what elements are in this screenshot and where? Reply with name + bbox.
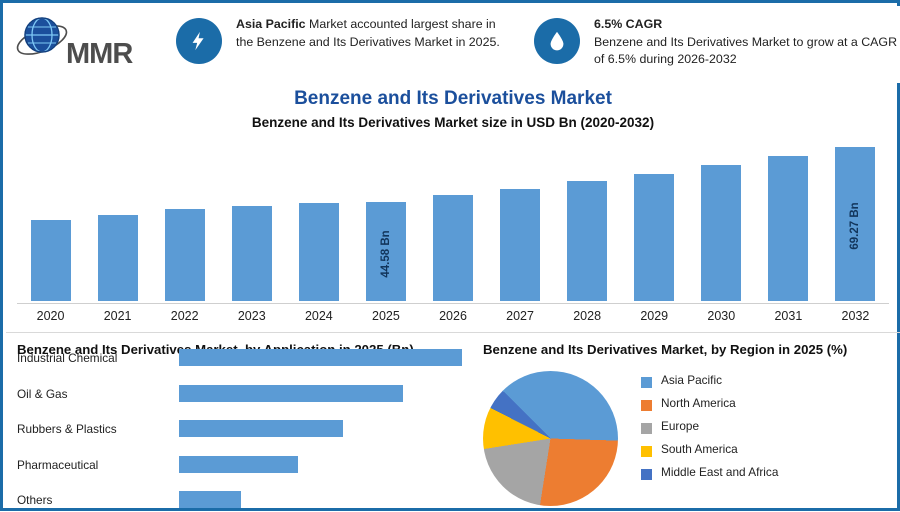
application-bar <box>179 420 343 437</box>
x-tick-2021: 2021 <box>88 309 148 323</box>
x-tick-2027: 2027 <box>490 309 550 323</box>
region-pie-chart <box>483 371 618 506</box>
bar-rect <box>500 189 540 301</box>
legend-label: Middle East and Africa <box>661 465 778 479</box>
legend-item: South America <box>641 442 871 465</box>
market-size-bar-chart: 44.58 Bn69.27 Bn <box>17 141 889 301</box>
legend-label: North America <box>661 396 736 410</box>
logo: MMR <box>14 10 164 82</box>
lightning-bolt-icon <box>176 18 222 64</box>
bar-2029 <box>634 174 674 301</box>
bar-chart-x-axis: 2020202120222023202420252026202720282029… <box>17 303 889 330</box>
x-tick-2020: 2020 <box>21 309 81 323</box>
x-tick-2028: 2028 <box>557 309 617 323</box>
bar-rect <box>165 209 205 301</box>
bar-rect <box>567 181 607 301</box>
bar-2027 <box>500 189 540 301</box>
bar-2023 <box>232 206 272 301</box>
legend-item: Asia Pacific <box>641 373 871 396</box>
application-label: Rubbers & Plastics <box>17 422 177 436</box>
header-highlight-text: 6.5% CAGRBenzene and Its Derivatives Mar… <box>594 16 899 69</box>
bar-2028 <box>567 181 607 301</box>
bar-2021 <box>98 215 138 301</box>
bar-rect <box>299 203 339 301</box>
bar-2026 <box>433 195 473 301</box>
x-tick-2026: 2026 <box>423 309 483 323</box>
bar-rect <box>701 165 741 301</box>
bar-rect <box>232 206 272 301</box>
application-label: Others <box>17 493 177 507</box>
header-highlight-bold: Asia Pacific <box>236 17 306 31</box>
region-legend: Asia PacificNorth AmericaEuropeSouth Ame… <box>641 373 871 488</box>
legend-label: South America <box>661 442 738 456</box>
region-chart-title: Benzene and Its Derivatives Market, by R… <box>483 342 847 357</box>
legend-item: Europe <box>641 419 871 442</box>
bar-rect <box>634 174 674 301</box>
chart-subtitle: Benzene and Its Derivatives Market size … <box>3 115 900 130</box>
bar-2020 <box>31 220 71 301</box>
x-tick-2025: 2025 <box>356 309 416 323</box>
application-bar <box>179 456 298 473</box>
bar-2032: 69.27 Bn <box>835 147 875 301</box>
legend-item: Middle East and Africa <box>641 465 871 488</box>
x-tick-2032: 2032 <box>825 309 885 323</box>
bar-value-label: 69.27 Bn <box>849 202 861 249</box>
bar-rect <box>768 156 808 301</box>
legend-label: Europe <box>661 419 699 433</box>
bar-rect <box>433 195 473 301</box>
x-tick-2023: 2023 <box>222 309 282 323</box>
bar-2022 <box>165 209 205 301</box>
header-highlight-bold: 6.5% CAGR <box>594 17 662 31</box>
x-tick-2024: 2024 <box>289 309 349 323</box>
x-tick-2031: 2031 <box>758 309 818 323</box>
bar-2030 <box>701 165 741 301</box>
header: MMR Asia Pacific Market accounted larges… <box>6 6 900 83</box>
x-tick-2029: 2029 <box>624 309 684 323</box>
bar-rect <box>98 215 138 301</box>
infographic-page: MMR Asia Pacific Market accounted larges… <box>0 0 900 511</box>
x-tick-2030: 2030 <box>691 309 751 323</box>
page-title: Benzene and Its Derivatives Market <box>3 88 900 110</box>
header-highlight-rest: Benzene and Its Derivatives Market to gr… <box>594 35 897 67</box>
legend-item: North America <box>641 396 871 419</box>
application-label: Industrial Chemical <box>17 351 177 365</box>
application-label: Pharmaceutical <box>17 458 177 472</box>
legend-swatch <box>641 446 652 457</box>
legend-swatch <box>641 400 652 411</box>
water-drop-icon <box>534 18 580 64</box>
logo-text: MMR <box>66 38 132 71</box>
bar-2025: 44.58 Bn <box>366 202 406 301</box>
bar-2024 <box>299 203 339 301</box>
globe-icon <box>14 10 74 70</box>
bar-value-label: 44.58 Bn <box>380 230 392 277</box>
legend-label: Asia Pacific <box>661 373 722 387</box>
application-label: Oil & Gas <box>17 387 177 401</box>
bar-rect <box>31 220 71 301</box>
legend-swatch <box>641 469 652 480</box>
section-divider <box>6 332 900 333</box>
x-tick-2022: 2022 <box>155 309 215 323</box>
legend-swatch <box>641 377 652 388</box>
header-highlight-text: Asia Pacific Market accounted largest sh… <box>236 16 516 51</box>
application-bar <box>179 349 462 366</box>
application-bar <box>179 491 241 508</box>
application-bar <box>179 385 403 402</box>
legend-swatch <box>641 423 652 434</box>
bar-2031 <box>768 156 808 301</box>
